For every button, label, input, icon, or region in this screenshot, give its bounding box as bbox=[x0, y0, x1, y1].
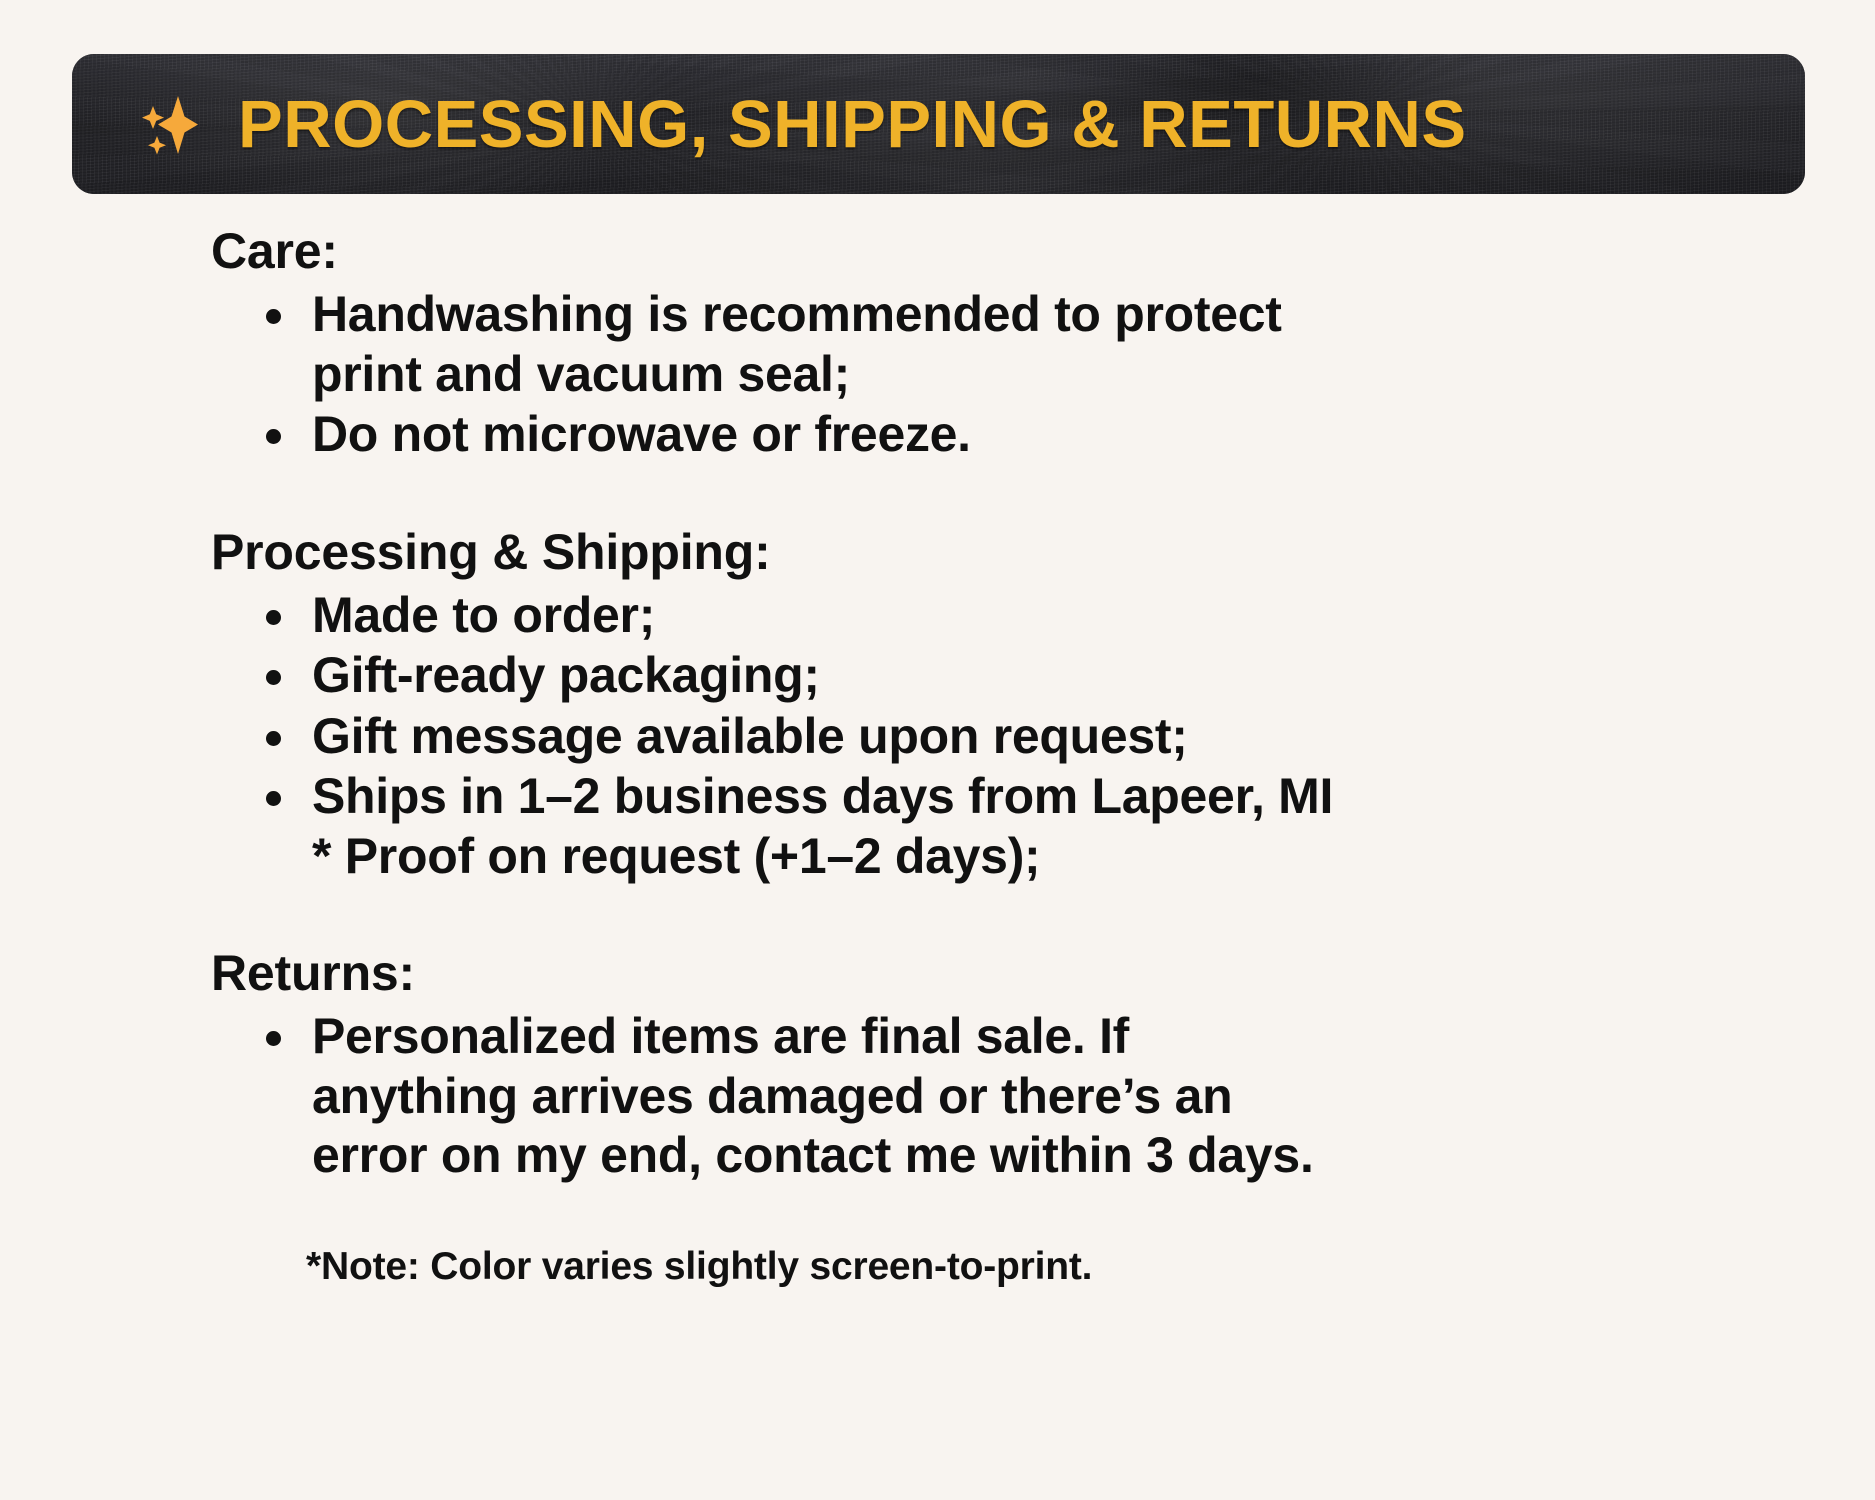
list-item-line: Gift-ready packaging; bbox=[312, 647, 820, 703]
bullet-dot-icon bbox=[266, 791, 281, 806]
section-heading-returns: Returns: bbox=[0, 944, 1875, 1003]
bullet-dot-icon bbox=[266, 429, 281, 444]
section-care: Care: Handwashing is recommended to prot… bbox=[0, 222, 1875, 465]
list-item: Gift-ready packaging; bbox=[0, 646, 1875, 706]
list-item: Do not microwave or freeze. bbox=[0, 405, 1875, 465]
page-title: PROCESSING, SHIPPING & RETURNS bbox=[238, 91, 1467, 158]
list-item-line: Made to order; bbox=[312, 587, 655, 643]
bullet-dot-icon bbox=[266, 731, 281, 746]
section-heading-care: Care: bbox=[0, 222, 1875, 281]
list-item-subnote: * Proof on request (+1–2 days); bbox=[312, 827, 1875, 887]
section-returns: Returns: Personalized items are final sa… bbox=[0, 944, 1875, 1186]
section-processing-shipping: Processing & Shipping: Made to order; Gi… bbox=[0, 523, 1875, 887]
list-item: Ships in 1–2 business days from Lapeer, … bbox=[0, 767, 1875, 886]
list-item: Gift message available upon request; bbox=[0, 707, 1875, 767]
bullet-list-processing-shipping: Made to order; Gift-ready packaging; Gif… bbox=[0, 586, 1875, 887]
list-item-line: Handwashing is recommended to protect bbox=[312, 286, 1282, 342]
header-banner-inner: PROCESSING, SHIPPING & RETURNS bbox=[72, 88, 1467, 160]
list-item-line: Do not microwave or freeze. bbox=[312, 406, 971, 462]
list-item: Made to order; bbox=[0, 586, 1875, 646]
list-item-line: error on my end, contact me within 3 day… bbox=[312, 1126, 1875, 1186]
content-area: Care: Handwashing is recommended to prot… bbox=[0, 222, 1875, 1290]
list-item: Personalized items are final sale. If an… bbox=[0, 1007, 1875, 1186]
bullet-list-returns: Personalized items are final sale. If an… bbox=[0, 1007, 1875, 1186]
processing-shipping-returns-panel: PROCESSING, SHIPPING & RETURNS Care: Han… bbox=[0, 0, 1875, 1500]
section-heading-processing-shipping: Processing & Shipping: bbox=[0, 523, 1875, 582]
bullet-dot-icon bbox=[266, 1031, 281, 1046]
bullet-list-care: Handwashing is recommended to protect pr… bbox=[0, 285, 1875, 465]
bullet-dot-icon bbox=[266, 610, 281, 625]
bullet-dot-icon bbox=[266, 309, 281, 324]
sparkles-icon bbox=[138, 88, 200, 160]
color-disclaimer-note: *Note: Color varies slightly screen-to-p… bbox=[0, 1244, 1875, 1291]
list-item-line: Personalized items are final sale. If bbox=[312, 1008, 1129, 1064]
header-banner: PROCESSING, SHIPPING & RETURNS bbox=[72, 54, 1805, 194]
list-item: Handwashing is recommended to protect pr… bbox=[0, 285, 1875, 404]
list-item-line: anything arrives damaged or there’s an bbox=[312, 1067, 1875, 1127]
list-item-line: Ships in 1–2 business days from Lapeer, … bbox=[312, 768, 1333, 824]
list-item-line: print and vacuum seal; bbox=[312, 345, 1875, 405]
bullet-dot-icon bbox=[266, 670, 281, 685]
list-item-line: Gift message available upon request; bbox=[312, 708, 1188, 764]
